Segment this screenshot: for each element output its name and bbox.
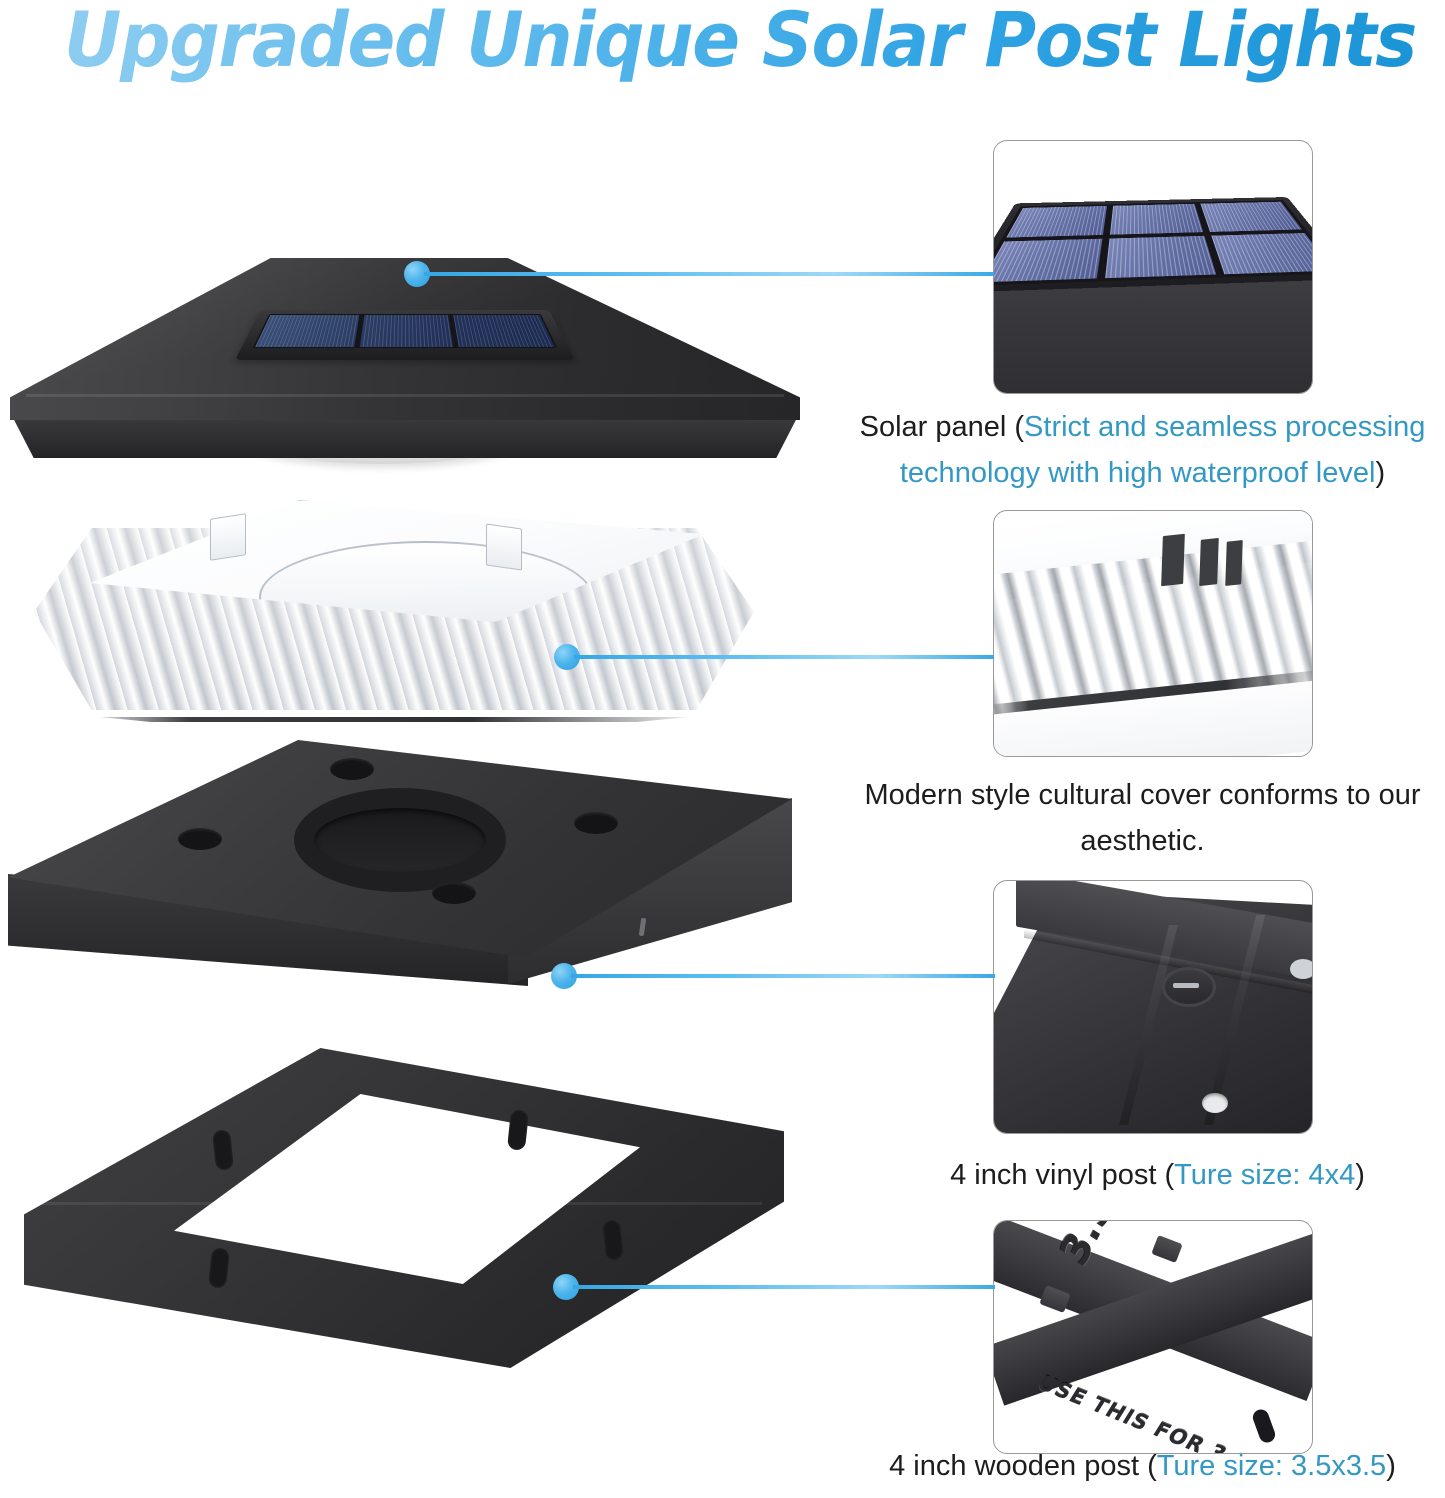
caption-vinyl-post: 4 inch vinyl post (Ture size: 4x4) bbox=[870, 1152, 1445, 1198]
solar-panel-face bbox=[253, 314, 558, 348]
crystal-cover-closeup-image bbox=[994, 511, 1312, 756]
glass-base-edge bbox=[74, 717, 714, 722]
caption-vinyl-highlight: Ture size: 4x4 bbox=[1174, 1159, 1355, 1191]
connector-line-crystal-cover bbox=[574, 655, 994, 659]
solar-cell bbox=[1201, 202, 1302, 232]
product-part-adapter-ring bbox=[24, 1048, 784, 1368]
caption-solar-panel: Solar panel (Strict and seamless process… bbox=[840, 404, 1445, 496]
caption-wooden-close: ) bbox=[1386, 1450, 1396, 1482]
caption-solar-close: ) bbox=[1375, 457, 1385, 489]
base-screw-hole bbox=[330, 758, 374, 780]
solar-panel-housing bbox=[235, 310, 575, 360]
connector-line-wooden-post bbox=[573, 1285, 995, 1289]
solar-cell bbox=[1006, 206, 1106, 237]
detail-box-crystal-cover bbox=[993, 510, 1313, 757]
caption-solar-plain: Solar panel ( bbox=[860, 411, 1024, 443]
cap-body bbox=[10, 258, 800, 458]
solar-cell-divider bbox=[354, 315, 364, 347]
connector-line-vinyl-post bbox=[571, 974, 995, 978]
detail-box-vinyl-post bbox=[993, 880, 1313, 1134]
screw-boss bbox=[1162, 967, 1216, 1007]
crystal-notch bbox=[1199, 538, 1219, 586]
solar-cell bbox=[993, 238, 1102, 282]
glass-clip-tab bbox=[486, 523, 522, 570]
adapter-tab bbox=[1151, 1235, 1182, 1263]
base-center-collar bbox=[294, 788, 506, 892]
page-title: Upgraded Unique Solar Post Lights bbox=[64, 0, 1416, 86]
detail-box-solar-panel bbox=[993, 140, 1313, 394]
caption-wooden-post: 4 inch wooden post (Ture size: 3.5x3.5) bbox=[840, 1443, 1445, 1489]
caption-wooden-plain: 4 inch wooden post ( bbox=[889, 1450, 1157, 1482]
glass-clip-tab bbox=[210, 513, 246, 561]
product-part-glass-cover bbox=[34, 500, 754, 730]
base-screw-hole bbox=[574, 812, 618, 834]
adapter-slot bbox=[1251, 1407, 1278, 1444]
crystal-notch bbox=[1161, 534, 1185, 587]
caption-vinyl-close: ) bbox=[1355, 1159, 1365, 1191]
solar-panel-closeup-image bbox=[994, 141, 1312, 393]
connector-line-solar-panel bbox=[424, 272, 994, 276]
embossed-instruction-text: USE THIS FOR 3.5 IN bbox=[1033, 1371, 1288, 1454]
cap-edge-highlight bbox=[26, 394, 784, 397]
caption-vinyl-plain: 4 inch vinyl post ( bbox=[950, 1159, 1174, 1191]
panel-tilted-face bbox=[993, 197, 1313, 292]
detail-box-wooden-post: 3.5x3.5 IN USE THIS FOR 3.5 IN bbox=[993, 1220, 1313, 1454]
solar-cell-grid bbox=[993, 200, 1313, 285]
crystal-notch bbox=[1225, 540, 1243, 586]
caption-cover-plain: Modern style cultural cover conforms to … bbox=[864, 779, 1420, 857]
mounting-hole bbox=[1202, 1093, 1228, 1113]
solar-cell bbox=[1105, 236, 1217, 279]
solar-cell bbox=[1110, 204, 1204, 235]
header-band: Upgraded Unique Solar Post Lights bbox=[0, 0, 1445, 88]
caption-wooden-highlight: Ture size: 3.5x3.5 bbox=[1157, 1450, 1386, 1482]
base-underside-closeup-image bbox=[994, 881, 1312, 1133]
mounting-hole bbox=[1290, 959, 1313, 979]
caption-cultural-cover: Modern style cultural cover conforms to … bbox=[860, 772, 1425, 864]
product-part-base-plate bbox=[8, 740, 792, 1040]
base-screw-hole bbox=[432, 882, 476, 904]
solar-cell bbox=[1212, 233, 1313, 275]
solar-cell-divider bbox=[448, 315, 459, 347]
base-screw-hole bbox=[178, 828, 222, 850]
adapter-ring-closeup-image: 3.5x3.5 IN USE THIS FOR 3.5 IN bbox=[994, 1221, 1312, 1453]
